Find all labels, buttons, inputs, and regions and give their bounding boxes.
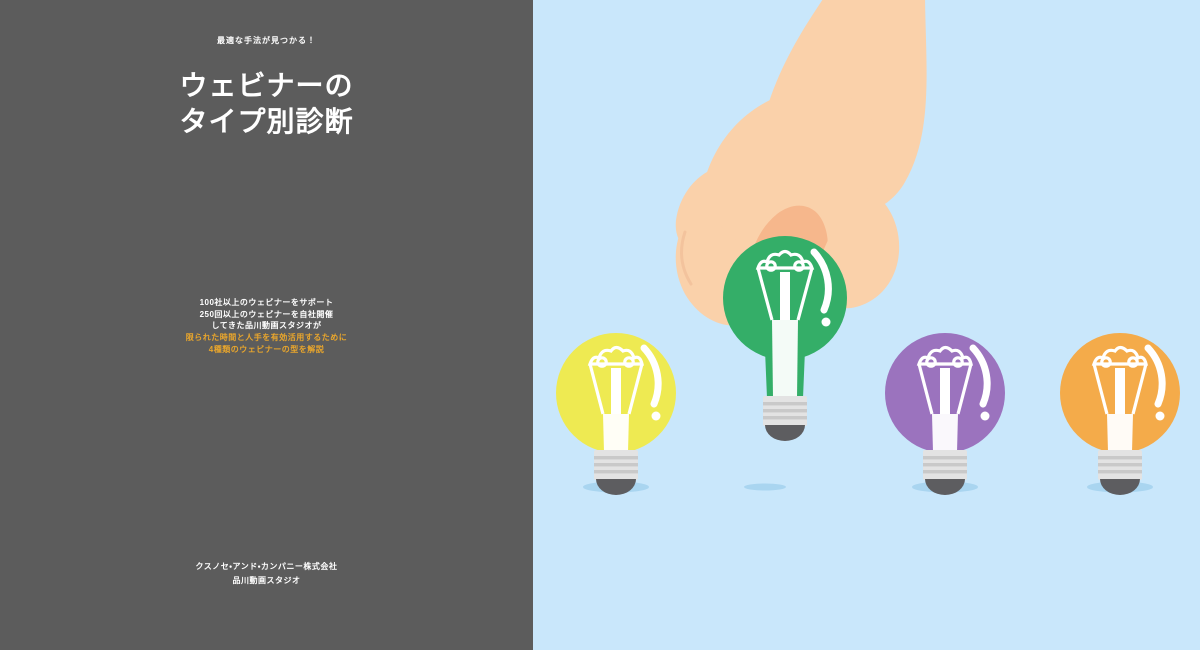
left-text-panel: 最適な手法が見つかる！ ウェビナーの タイプ別診断 100社以上のウェビナーをサ… bbox=[0, 0, 533, 650]
green-bulb-filament-stem bbox=[780, 272, 790, 320]
company-name: クスノセ・アンド・カンパニー株式会社 bbox=[0, 560, 533, 574]
poster-canvas: 最適な手法が見つかる！ ウェビナーの タイプ別診断 100社以上のウェビナーをサ… bbox=[0, 0, 1200, 650]
orange-bulb-glow bbox=[1107, 414, 1133, 452]
purple-bulb-glow bbox=[932, 414, 958, 452]
artwork-panel bbox=[533, 0, 1200, 650]
orange-bulb-base bbox=[1098, 450, 1142, 495]
green-bulb-base bbox=[763, 396, 807, 441]
yellow-bulb-filament-stem bbox=[611, 368, 621, 414]
lightbulb-illustration bbox=[533, 0, 1200, 650]
eyebrow-text: 最適な手法が見つかる！ bbox=[0, 36, 533, 46]
orange-bulb-filament-stem bbox=[1115, 368, 1125, 414]
body-line-2: 250回以上のウェビナーを自社開催 bbox=[0, 309, 533, 321]
headline-line-1: ウェビナーの bbox=[0, 68, 533, 104]
yellow-bulb-base bbox=[594, 450, 638, 495]
company-credit: クスノセ・アンド・カンパニー株式会社 品川動画スタジオ bbox=[0, 560, 533, 587]
body-copy: 100社以上のウェビナーをサポート 250回以上のウェビナーを自社開催 してきた… bbox=[0, 297, 533, 355]
body-line-1: 100社以上のウェビナーをサポート bbox=[0, 297, 533, 309]
page-title: ウェビナーの タイプ別診断 bbox=[0, 68, 533, 141]
purple-bulb-base bbox=[923, 450, 967, 495]
purple-bulb-filament-stem bbox=[940, 368, 950, 414]
body-line-5: 4種類のウェビナーの型を解説 bbox=[0, 344, 533, 356]
empty-bulb-slot-shadow bbox=[744, 484, 786, 491]
body-line-4: 限られた時間と人手を有効活用するために bbox=[0, 332, 533, 344]
green-bulb-glow bbox=[772, 320, 798, 398]
headline-line-2: タイプ別診断 bbox=[0, 104, 533, 140]
body-line-3: してきた品川動画スタジオが bbox=[0, 320, 533, 332]
yellow-bulb-glow bbox=[603, 414, 629, 452]
studio-name: 品川動画スタジオ bbox=[0, 574, 533, 588]
